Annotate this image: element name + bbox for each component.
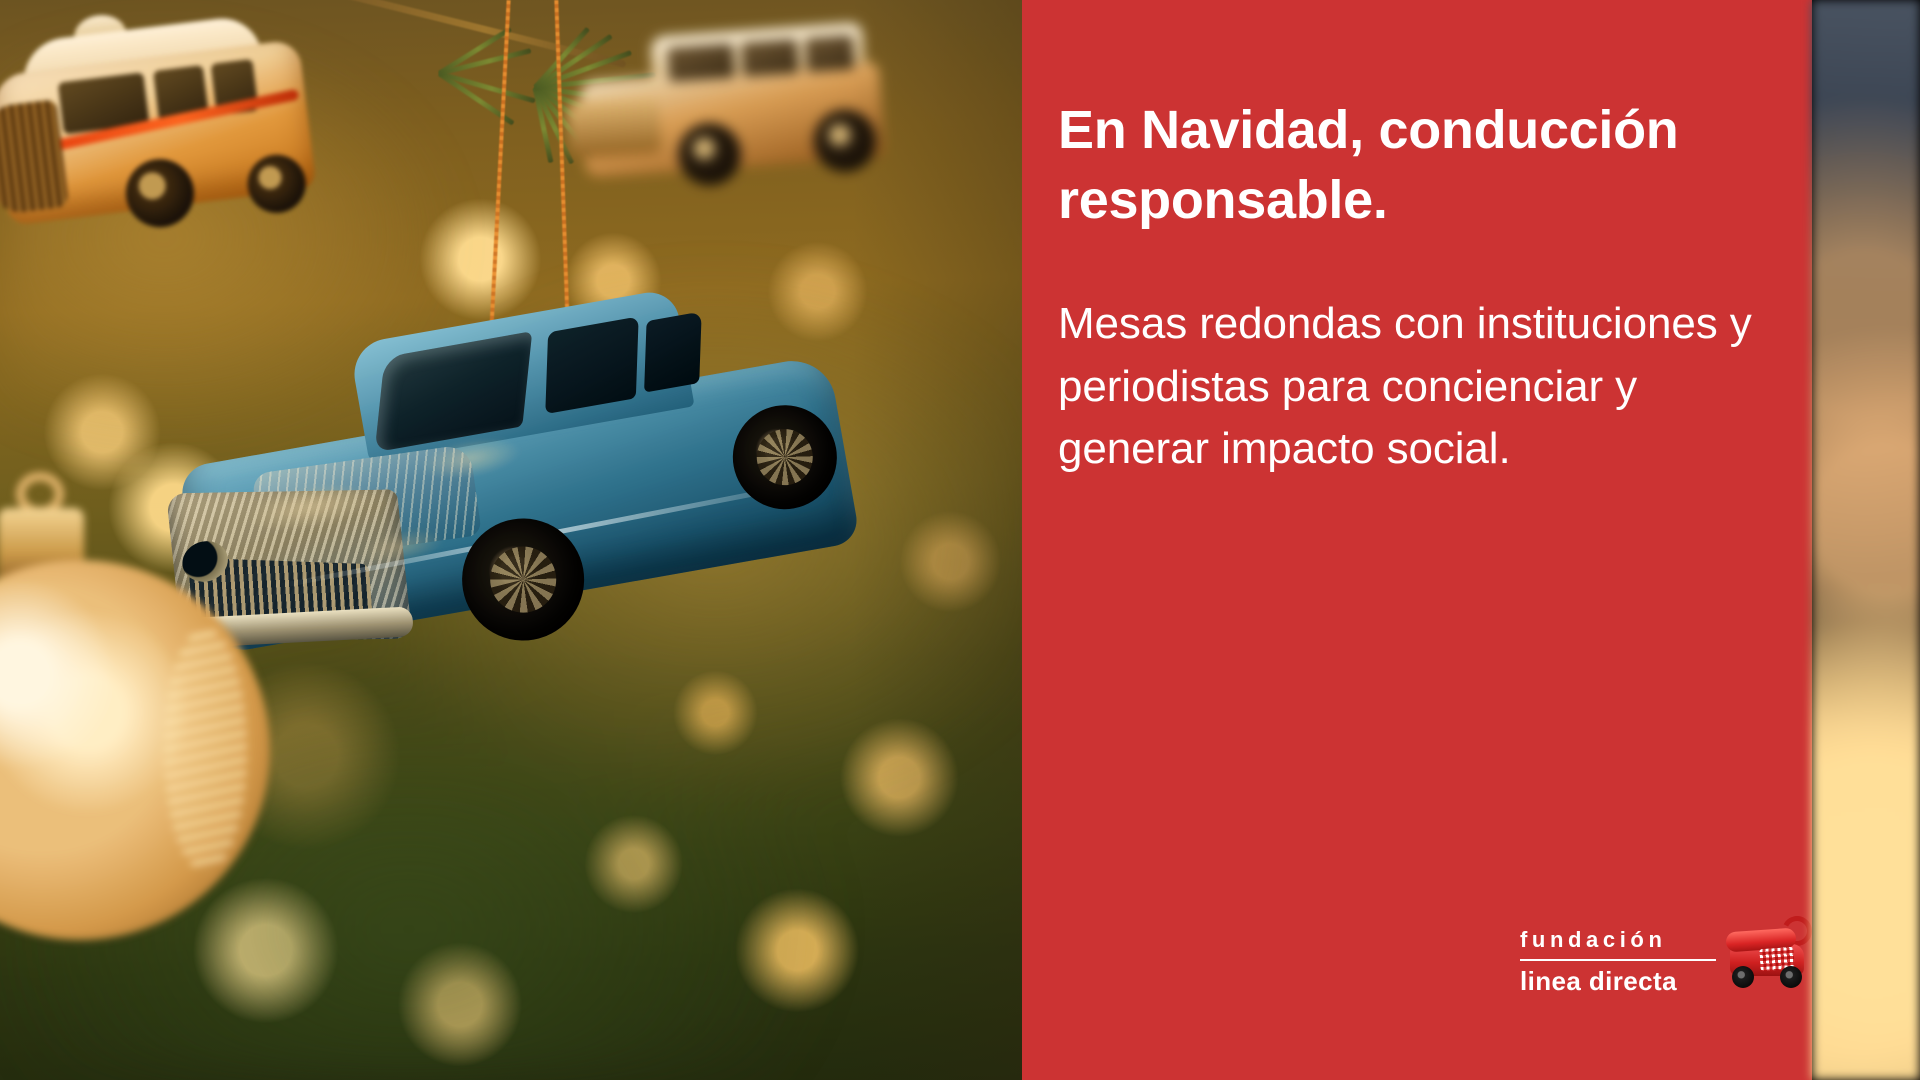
photo-edge-vignette <box>852 0 1022 1080</box>
telephone-on-wheels-icon <box>1726 918 1812 992</box>
vintage-bus-ornament <box>0 0 345 301</box>
gold-bauble-ornament <box>0 560 270 940</box>
logo-line-linea-directa: linea directa <box>1520 961 1716 998</box>
station-wagon-ornament <box>553 7 896 230</box>
slide-root: En Navidad, conducción responsable. Mesa… <box>0 0 1920 1080</box>
brand-logo: fundación linea directa <box>1520 924 1778 1016</box>
logo-wordmark: fundación linea directa <box>1520 928 1716 997</box>
copy-block: En Navidad, conducción responsable. Mesa… <box>1058 95 1774 481</box>
christmas-tree-photo <box>0 0 1022 1080</box>
red-text-panel: En Navidad, conducción responsable. Mesa… <box>1022 0 1812 1080</box>
body-paragraph: Mesas redondas con instituciones y perio… <box>1058 293 1774 480</box>
right-photo-strip <box>1812 0 1920 1080</box>
page-title: En Navidad, conducción responsable. <box>1058 95 1774 235</box>
logo-line-fundacion: fundación <box>1520 928 1716 961</box>
